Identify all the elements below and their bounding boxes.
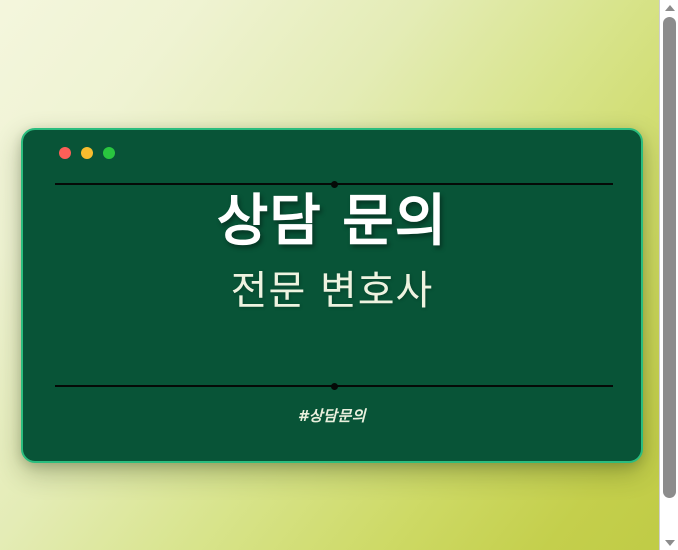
promo-card: 상담 문의 전문 변호사 #상담문의 bbox=[21, 128, 643, 463]
divider-bottom bbox=[55, 379, 613, 393]
maximize-button-dot[interactable] bbox=[103, 147, 115, 159]
triangle-down-icon bbox=[665, 540, 675, 546]
divider-top-node bbox=[331, 181, 338, 188]
triangle-up-icon bbox=[665, 5, 675, 11]
window-traffic-lights bbox=[59, 147, 115, 159]
scrollbar-thumb[interactable] bbox=[663, 17, 676, 498]
page-subtitle: 전문 변호사 bbox=[23, 268, 641, 314]
scroll-down-arrow-icon[interactable] bbox=[660, 535, 678, 550]
page-canvas: 상담 문의 전문 변호사 #상담문의 bbox=[0, 0, 678, 550]
card-content: 상담 문의 전문 변호사 bbox=[23, 192, 641, 314]
hashtag-label: #상담문의 bbox=[23, 405, 641, 426]
browser-viewport: 상담 문의 전문 변호사 #상담문의 bbox=[0, 0, 678, 550]
minimize-button-dot[interactable] bbox=[81, 147, 93, 159]
page-title: 상담 문의 bbox=[23, 192, 641, 252]
divider-bottom-node bbox=[331, 383, 338, 390]
scroll-up-arrow-icon[interactable] bbox=[660, 0, 678, 15]
vertical-scrollbar[interactable] bbox=[659, 0, 678, 550]
close-button-dot[interactable] bbox=[59, 147, 71, 159]
